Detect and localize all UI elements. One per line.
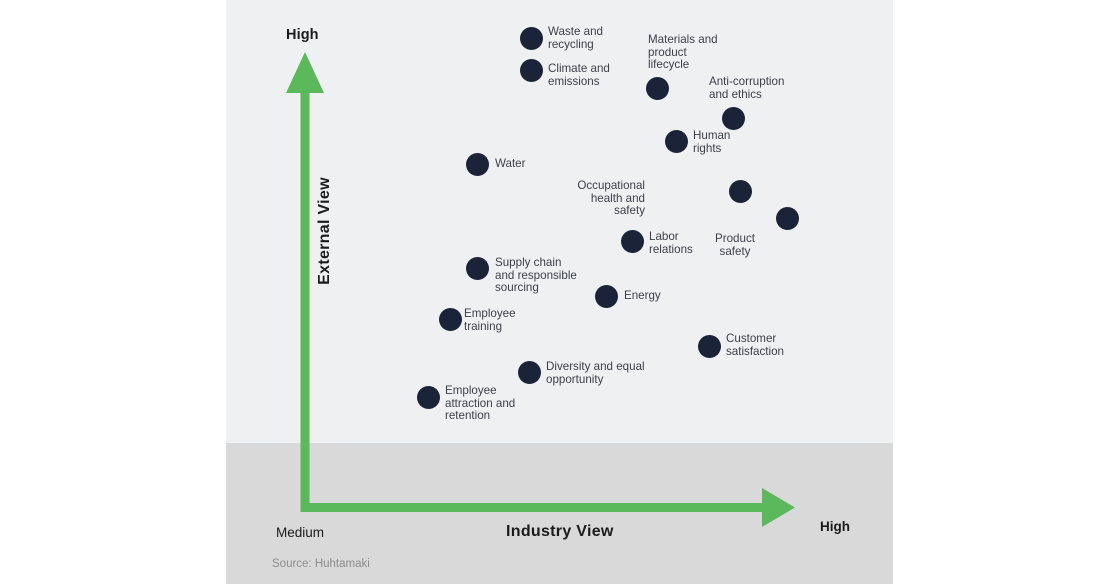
data-point-bubble — [520, 27, 543, 50]
data-point-bubble — [466, 153, 489, 176]
materiality-matrix-figure: High External View Medium Industry View … — [0, 0, 1120, 584]
data-point-bubble — [621, 230, 644, 253]
data-point-label: Diversity and equal opportunity — [546, 361, 645, 386]
data-point-bubble — [729, 180, 752, 203]
data-point-bubble — [595, 285, 618, 308]
y-axis-high-label: High — [286, 27, 319, 43]
data-point-label: Occupational health and safety — [577, 180, 645, 218]
data-point-label: Human rights — [693, 130, 730, 155]
source-note: Source: Huhtamaki — [272, 558, 370, 570]
x-axis-title: Industry View — [506, 523, 614, 541]
data-point-bubble — [646, 77, 669, 100]
data-point-label: Customer satisfaction — [726, 333, 784, 358]
data-point-label: Materials and product lifecycle — [648, 34, 718, 72]
data-point-label: Anti-corruption and ethics — [709, 76, 784, 101]
data-point-bubble — [776, 207, 799, 230]
data-point-label: Waste and recycling — [548, 26, 603, 51]
x-axis-high-label: High — [820, 519, 850, 534]
x-axis-medium-label: Medium — [276, 525, 324, 540]
data-point-bubble — [698, 335, 721, 358]
data-point-label: Employee attraction and retention — [445, 385, 515, 423]
data-point-bubble — [417, 386, 440, 409]
data-point-label: Product safety — [695, 233, 775, 258]
data-point-label: Water — [495, 158, 526, 171]
data-point-bubble — [520, 59, 543, 82]
data-point-label: Climate and emissions — [548, 63, 610, 88]
data-point-label: Employee training — [464, 308, 516, 333]
data-point-bubble — [665, 130, 688, 153]
data-point-bubble — [518, 361, 541, 384]
data-point-label: Energy — [624, 290, 661, 303]
data-point-label: Labor relations — [649, 231, 693, 256]
data-point-bubble — [722, 107, 745, 130]
data-point-bubble — [466, 257, 489, 280]
data-point-label: Supply chain and responsible sourcing — [495, 257, 577, 295]
y-axis-title: External View — [316, 161, 334, 301]
data-point-bubble — [439, 308, 462, 331]
